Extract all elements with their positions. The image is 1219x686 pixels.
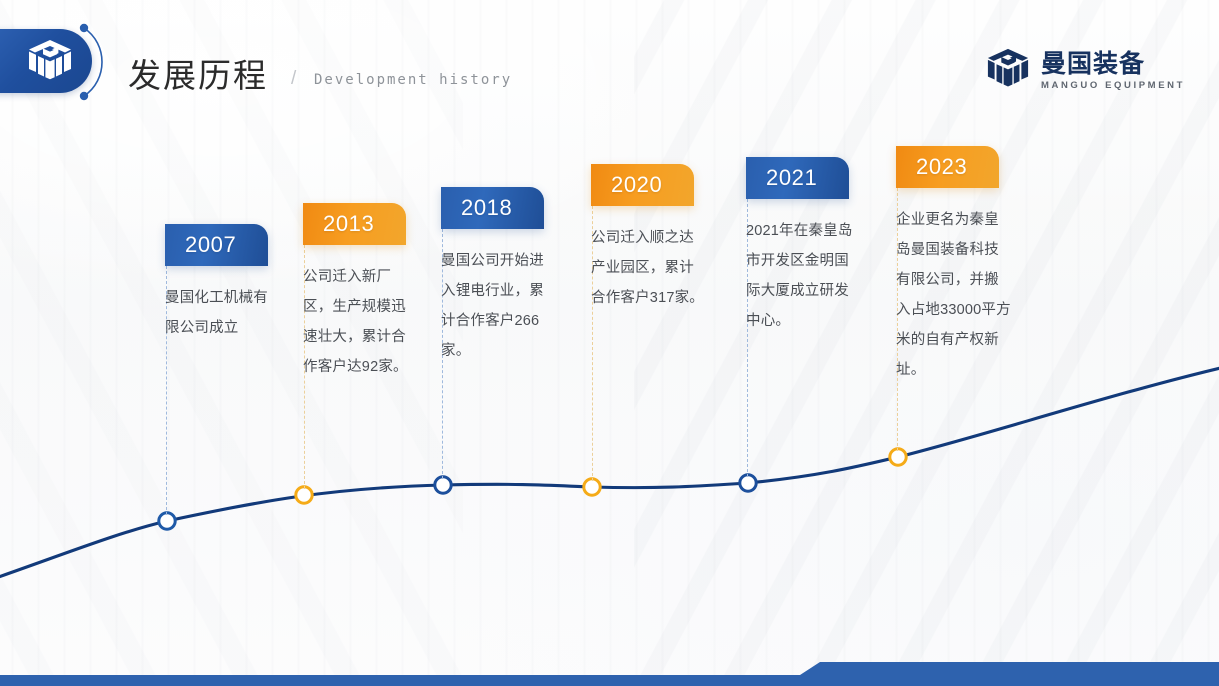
year-badge-2018[interactable]: 2018: [441, 187, 544, 229]
milestone-description-2007: 曼国化工机械有限公司成立: [165, 283, 281, 343]
year-badge-2013[interactable]: 2013: [303, 203, 406, 245]
milestone-2007[interactable]: 2007 曼国化工机械有限公司成立: [165, 224, 285, 343]
timeline-node-2018: [435, 477, 451, 493]
milestone-description-2023: 企业更名为秦皇岛曼国装备科技有限公司，并搬入占地33000平方米的自有产权新址。: [896, 205, 1012, 385]
milestone-2021[interactable]: 2021 2021年在秦皇岛市开发区金明国际大厦成立研发中心。: [746, 157, 866, 336]
timeline-node-2013: [296, 487, 312, 503]
timeline-nodes: [0, 0, 1219, 686]
year-badge-2007[interactable]: 2007: [165, 224, 268, 266]
milestone-2018[interactable]: 2018 曼国公司开始进入锂电行业，累计合作客户266家。: [441, 187, 561, 366]
year-badge-2020[interactable]: 2020: [591, 164, 694, 206]
timeline-node-2023: [890, 449, 906, 465]
timeline-node-2007: [159, 513, 175, 529]
slide-canvas: 发展历程 / Development history: [0, 0, 1219, 686]
timeline-node-2020: [584, 479, 600, 495]
milestone-description-2021: 2021年在秦皇岛市开发区金明国际大厦成立研发中心。: [746, 216, 862, 336]
milestone-description-2020: 公司迁入顺之达产业园区，累计合作客户317家。: [591, 223, 707, 313]
milestone-2013[interactable]: 2013 公司迁入新厂区，生产规模迅速壮大，累计合作客户达92家。: [303, 203, 423, 382]
year-badge-2021[interactable]: 2021: [746, 157, 849, 199]
year-badge-2023[interactable]: 2023: [896, 146, 999, 188]
milestone-description-2013: 公司迁入新厂区，生产规模迅速壮大，累计合作客户达92家。: [303, 262, 419, 382]
bottom-accent-bar: [0, 650, 1219, 686]
milestone-2023[interactable]: 2023 企业更名为秦皇岛曼国装备科技有限公司，并搬入占地33000平方米的自有…: [896, 146, 1016, 385]
milestone-description-2018: 曼国公司开始进入锂电行业，累计合作客户266家。: [441, 246, 557, 366]
timeline-node-2021: [740, 475, 756, 491]
milestone-2020[interactable]: 2020 公司迁入顺之达产业园区，累计合作客户317家。: [591, 164, 711, 313]
